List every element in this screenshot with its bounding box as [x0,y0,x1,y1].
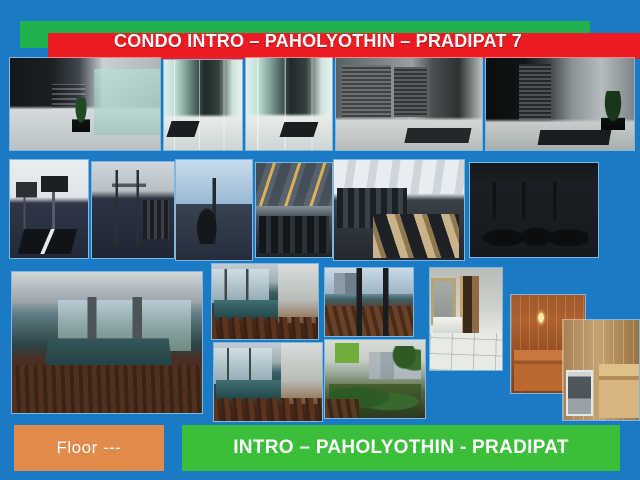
photo-pool-lane-lounge [212,264,318,339]
photo-covered-drop-off [486,58,634,150]
lane-mullion-layer [214,348,272,384]
slide-title: CONDO INTRO – PAHOLYOTHIN – PRADIPAT 7 [48,28,588,54]
bath-door-layer [460,276,479,335]
gym-hall-treadmill-layer [373,214,459,258]
photo-sauna-heater [563,320,639,420]
dropoff-mat-layer [538,130,612,145]
gym-equipment-row-layer [259,216,329,254]
sauna-b-bench-layer [599,364,639,418]
floor-label-text: Floor --- [57,438,122,458]
photo-gym-ceiling-baffles [256,163,332,257]
dumbbell-rack-layer [143,200,169,238]
treadmill-belt-layer [18,229,77,254]
photo-roof-garden [325,340,425,418]
garden-palms-layer [377,346,421,387]
elliptical-layer [196,178,232,244]
photo-gym-dark-city-window [470,163,598,257]
photo-gym-treadmills [10,160,88,258]
photo-glass-lobby-with-person [246,58,332,150]
photo-glass-door-entrance [164,60,242,150]
photo-gym-hall-treadmills [334,160,464,260]
glass-lobby-mat-layer [280,122,319,137]
garden-green-panel-layer [335,343,359,363]
lounge-wall-layer [278,264,318,323]
photo-gym-elliptical-window [176,160,252,260]
bath-tile-layer [430,333,502,370]
footer-caption-text: INTRO – PAHOLYOTHIN - PRADIPAT [233,437,569,459]
photo-pool-balcony-view [325,268,413,336]
entrance-mat-layer [166,121,199,137]
sauna-heater-unit-layer [566,370,593,416]
photo-louvered-corridor [336,58,482,150]
presentation-slide: CONDO INTRO – PAHOLYOTHIN – PRADIPAT 7 [0,0,640,480]
sauna-lamp-layer [535,309,547,329]
photo-gym-weight-rack [92,162,174,258]
footer-caption-box: INTRO – PAHOLYOTHIN - PRADIPAT [182,425,620,471]
lounge-deck-layer [212,317,318,340]
dark-gym-bikes-layer [480,204,588,251]
garden-deck-layer [325,399,359,418]
corridor-mat-layer [405,128,472,143]
photo-pool-lane-corridor [214,343,322,421]
lobby-plant-layer [72,98,90,131]
pool-deck-layer [12,365,202,413]
lobby-glass-layer [94,69,160,135]
photo-rooftop-pool-wide [12,272,202,413]
photo-bathroom-vanity [430,268,502,370]
ceiling-baffle-layer [256,163,332,206]
floor-label-box: Floor --- [14,425,164,471]
dropoff-plant-layer [601,91,625,130]
lane-deck-layer [214,398,322,421]
weight-rack-layer [112,170,146,245]
lane-wall-layer [281,343,322,404]
balcony-post-layer [325,268,413,336]
lounge-mullion-layer [212,269,269,304]
photo-lobby-main-entrance [10,58,160,150]
